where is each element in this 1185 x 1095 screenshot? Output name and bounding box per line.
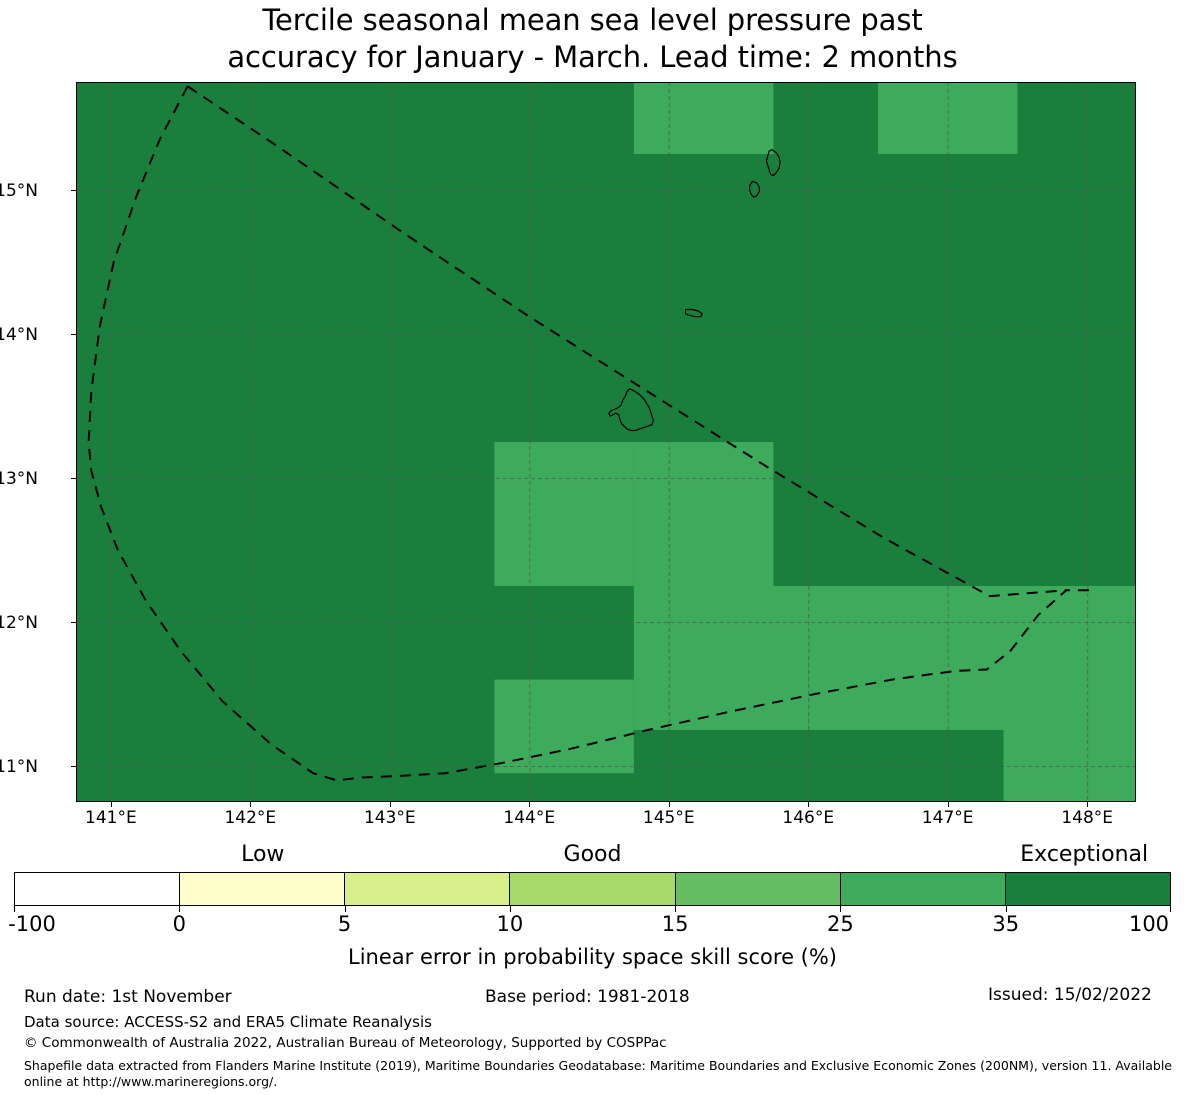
colorbar-gradient xyxy=(14,872,1171,906)
colorbar-tick-label: -100 xyxy=(0,912,102,936)
colorbar-segment xyxy=(841,873,1006,905)
map-layers xyxy=(76,82,1136,802)
footer-issued-date: Issued: 15/02/2022 xyxy=(988,985,1152,1005)
colorbar-tick-label: 35 xyxy=(936,912,1076,936)
colorbar-tick-label: 0 xyxy=(109,912,249,936)
footer-run-date: Run date: 1st November xyxy=(24,987,232,1007)
colorbar-tick-label: 100 xyxy=(1079,912,1185,936)
footer-copyright: © Commonwealth of Australia 2022, Austra… xyxy=(24,1035,667,1051)
colorbar-segment xyxy=(1006,873,1170,905)
page-title-line-2: accuracy for January - March. Lead time:… xyxy=(0,39,1185,76)
colorbar-tick-label: 5 xyxy=(275,912,415,936)
colorbar-tick-label: 15 xyxy=(605,912,745,936)
colorbar-category-label: Low xyxy=(133,842,393,867)
colorbar-tick-label: 10 xyxy=(440,912,580,936)
footer-data-source: Data source: ACCESS-S2 and ERA5 Climate … xyxy=(24,1013,432,1031)
heatmap-cell xyxy=(808,658,1136,730)
x-axis-tick-label: 146°E xyxy=(728,808,888,828)
x-axis-tick-label: 144°E xyxy=(449,808,609,828)
x-axis-tick-label: 141°E xyxy=(31,808,191,828)
y-axis-tick-mark xyxy=(71,766,76,767)
y-axis-tick-label: 11°N xyxy=(0,757,38,777)
y-axis-tick-label: 12°N xyxy=(0,613,38,633)
y-axis-tick-label: 13°N xyxy=(0,469,38,489)
x-axis-tick-mark xyxy=(808,802,809,807)
x-axis-tick-mark xyxy=(111,802,112,807)
colorbar: -1000510152535100 LowGoodExceptional xyxy=(14,872,1171,906)
y-axis-tick-mark xyxy=(71,190,76,191)
y-axis-tick-label: 15°N xyxy=(0,181,38,201)
footer-shapefile-note: Shapefile data extracted from Flanders M… xyxy=(24,1058,1174,1090)
y-axis-tick-mark xyxy=(71,478,76,479)
x-axis-tick-label: 145°E xyxy=(589,808,749,828)
heatmap-cell xyxy=(1004,723,1137,802)
colorbar-segment xyxy=(15,873,180,905)
x-axis-tick-mark xyxy=(669,802,670,807)
x-axis-tick-label: 147°E xyxy=(868,808,1028,828)
page-title-line-1: Tercile seasonal mean sea level pressure… xyxy=(0,2,1185,39)
x-axis-tick-mark xyxy=(390,802,391,807)
heatmap-cell xyxy=(494,680,633,774)
map-chart: 11°N12°N13°N14°N15°N 141°E142°E143°E144°… xyxy=(76,82,1136,802)
page-title: Tercile seasonal mean sea level pressure… xyxy=(0,2,1185,76)
colorbar-segment xyxy=(510,873,675,905)
heatmap-cell xyxy=(634,442,773,586)
colorbar-tick-label: 25 xyxy=(770,912,910,936)
colorbar-category-label: Good xyxy=(463,842,723,867)
colorbar-segment xyxy=(180,873,345,905)
colorbar-segment xyxy=(345,873,510,905)
x-axis-tick-mark xyxy=(250,802,251,807)
colorbar-caption: Linear error in probability space skill … xyxy=(0,945,1185,969)
x-axis-tick-label: 143°E xyxy=(310,808,470,828)
x-axis-tick-mark xyxy=(1087,802,1088,807)
heatmap-cell xyxy=(808,752,934,802)
y-axis-tick-label: 14°N xyxy=(0,325,38,345)
y-axis-tick-mark xyxy=(71,622,76,623)
heatmap-cell xyxy=(494,442,633,586)
x-axis-tick-label: 148°E xyxy=(1007,808,1167,828)
footer-base-period: Base period: 1981-2018 xyxy=(485,987,690,1007)
x-axis-tick-label: 142°E xyxy=(170,808,330,828)
colorbar-segment xyxy=(676,873,841,905)
map-plot-area xyxy=(76,82,1136,802)
heatmap-cell xyxy=(634,658,808,730)
x-axis-tick-mark xyxy=(529,802,530,807)
y-axis-tick-mark xyxy=(71,334,76,335)
heatmap-cell xyxy=(634,82,773,154)
colorbar-category-label: Exceptional xyxy=(954,842,1185,867)
x-axis-tick-mark xyxy=(948,802,949,807)
